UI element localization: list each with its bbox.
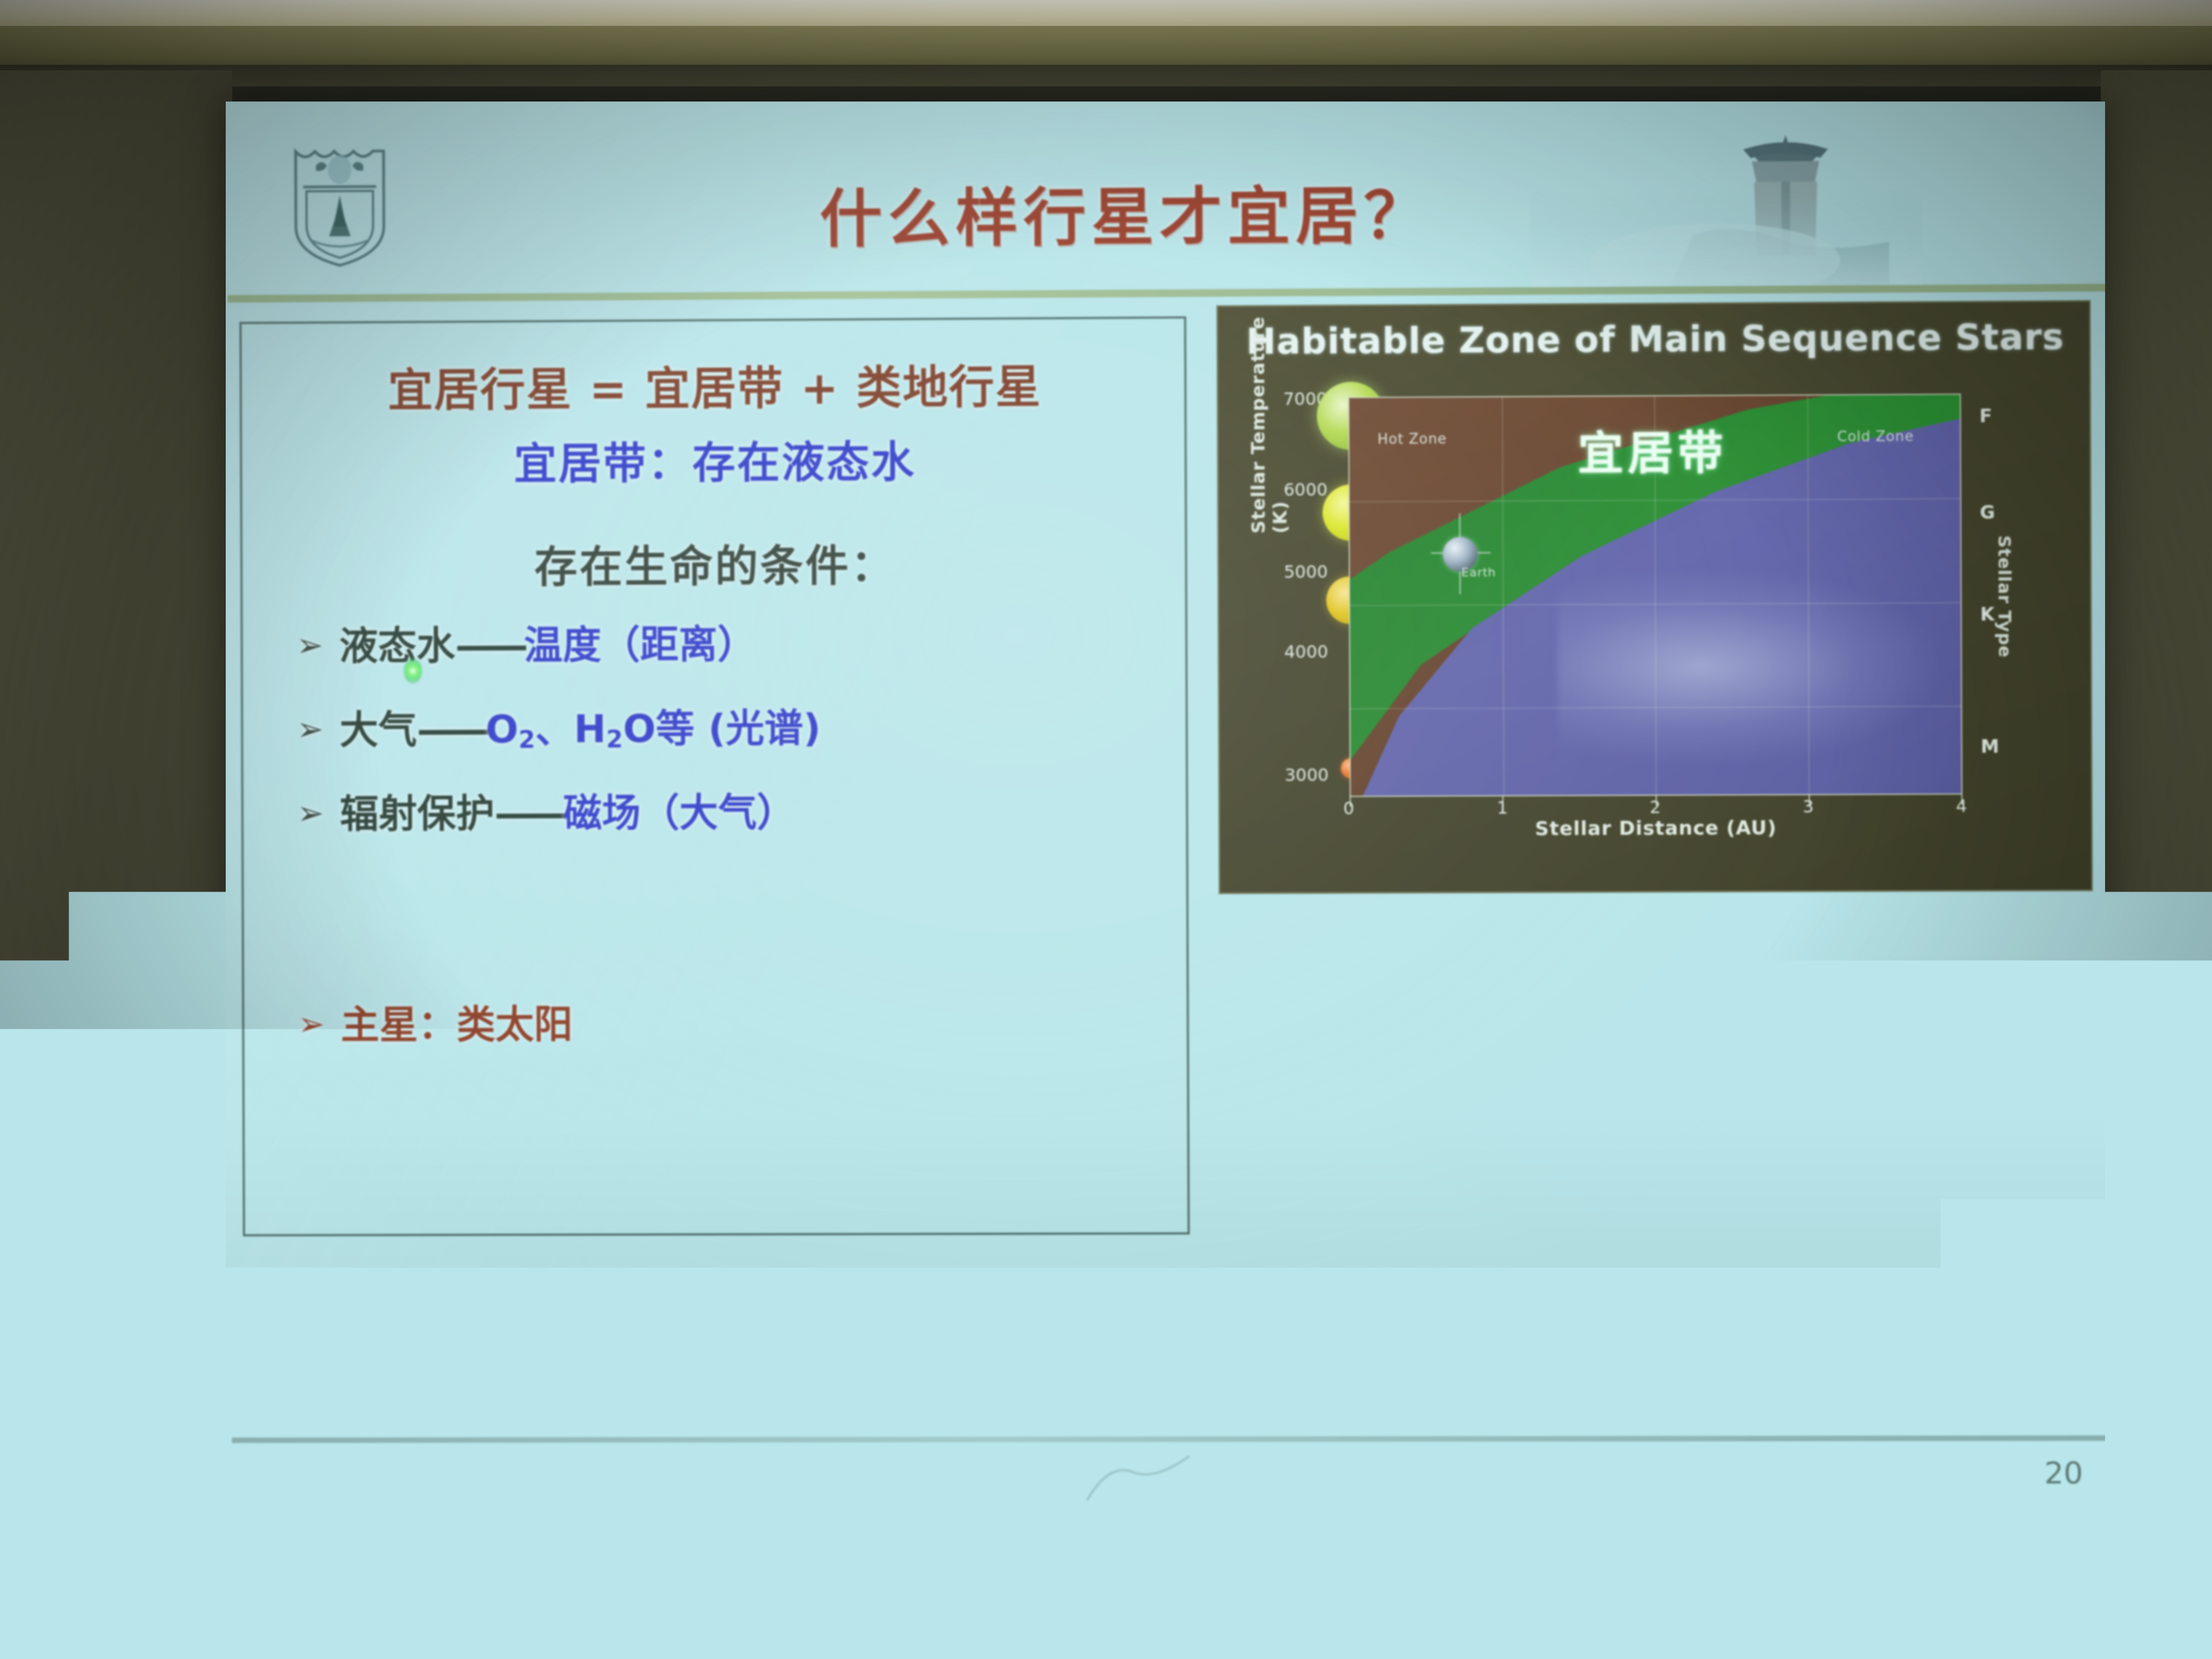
list-item: ➢ 大气——O2、H2O等 (光谱) bbox=[243, 694, 1190, 783]
bullet-arrow-icon: ➢ bbox=[298, 1008, 325, 1041]
bullet-value-h2o-subscript: 2 bbox=[606, 725, 623, 753]
stellar-type-K: K bbox=[1980, 604, 1995, 625]
earth-marker-label: Earth bbox=[1461, 566, 1496, 579]
stellar-type-G: G bbox=[1980, 502, 1995, 523]
y-tick-3000: 3000 bbox=[1285, 765, 1329, 785]
y-tick-5000: 5000 bbox=[1284, 562, 1328, 582]
stellar-type-F: F bbox=[1979, 406, 1992, 427]
screen-seam bbox=[232, 1435, 2105, 1443]
wall-left bbox=[0, 70, 232, 1561]
x-tick-1: 1 bbox=[1497, 798, 1508, 818]
audience-head bbox=[918, 1578, 1053, 1659]
slide-page: 什么样行星才宜居？ bbox=[227, 102, 2105, 1506]
bullet-key: 液态水 bbox=[339, 623, 455, 669]
projector-flare bbox=[918, 76, 1199, 140]
university-crest bbox=[290, 146, 390, 270]
x-tick-2: 2 bbox=[1650, 797, 1661, 817]
label-habitable-zone: 宜居带 bbox=[1512, 416, 1794, 483]
bullet-value-h2o-post: O等 (光谱) bbox=[623, 705, 821, 751]
bullet-arrow-icon: ➢ bbox=[296, 713, 323, 746]
audience-head bbox=[22, 1556, 184, 1659]
stellar-type-M: M bbox=[1981, 736, 1999, 758]
bullet-dash: —— bbox=[495, 790, 564, 835]
projection-screen: 什么样行星才宜居？ bbox=[226, 102, 2105, 1506]
list-item: ➢ 主星：类太阳 bbox=[244, 990, 1191, 1077]
bullet-dash: —— bbox=[455, 622, 524, 667]
bullet-value: 温度（距离） bbox=[524, 621, 756, 667]
chart-right-axis-label: Stellar Type bbox=[1994, 535, 2015, 752]
chart-x-axis-label: Stellar Distance (AU) bbox=[1350, 816, 1963, 840]
habitable-zone-chart: Habitable Zone of Main Sequence Stars St… bbox=[1216, 300, 2093, 894]
bullet-value-o2-subscript: 2 bbox=[518, 726, 535, 754]
bullet-key: 大气 bbox=[340, 707, 417, 752]
y-tick-6000: 6000 bbox=[1284, 479, 1328, 500]
bullet-arrow-icon: ➢ bbox=[297, 797, 324, 829]
label-hot-zone: Hot Zone bbox=[1378, 431, 1447, 448]
life-conditions-heading: 存在生命的条件： bbox=[242, 529, 1190, 596]
habitable-zone-definition: 宜居带：存在液态水 bbox=[242, 426, 1189, 493]
audience-head bbox=[713, 1535, 891, 1659]
wall-right bbox=[2101, 70, 2212, 1561]
chart-plot-area: Hot Zone 宜居带 Cold Zone Earth bbox=[1348, 394, 1962, 797]
bullet-value: 磁场（大气） bbox=[563, 790, 796, 835]
label-cold-zone: Cold Zone bbox=[1837, 428, 1914, 445]
x-tick-3: 3 bbox=[1803, 796, 1814, 817]
list-item: ➢ 液态水——温度（距离） bbox=[242, 610, 1190, 699]
laser-pointer-dot bbox=[404, 658, 422, 684]
conditions-list: ➢ 液态水——温度（距离） ➢ 大气——O2、H2O等 (光谱) ➢ 辐射保护—… bbox=[242, 610, 1191, 1077]
audience-head bbox=[194, 1578, 329, 1659]
habitable-planet-equation: 宜居行星 = 宜居带 + 类地行星 bbox=[242, 350, 1189, 421]
y-tick-4000: 4000 bbox=[1284, 642, 1328, 662]
page-title: 什么样行星才宜居？ bbox=[559, 163, 1694, 261]
x-tick-0: 0 bbox=[1343, 798, 1354, 819]
list-item: ➢ 辐射保护——磁场（大气） bbox=[244, 779, 1191, 866]
audience-silhouettes bbox=[0, 1481, 2212, 1659]
lecture-hall-photo: 什么样行星才宜居？ bbox=[0, 0, 2212, 1659]
bullet-value-o2: O bbox=[485, 706, 518, 752]
audience-head bbox=[1901, 1551, 2079, 1659]
bullet-value-h2o-pre: 、H bbox=[535, 706, 606, 751]
nebula-texture bbox=[1557, 570, 1937, 763]
content-textbox: 宜居行星 = 宜居带 + 类地行星 宜居带：存在液态水 存在生命的条件： ➢ 液… bbox=[239, 316, 1190, 1237]
audience-head bbox=[1339, 1567, 1485, 1659]
bullet-key: 主星：类太阳 bbox=[341, 1001, 573, 1047]
pagoda-watermark-image bbox=[1530, 125, 1922, 295]
header-divider bbox=[227, 284, 2105, 303]
chart-title: Habitable Zone of Main Sequence Stars bbox=[1218, 316, 2093, 363]
x-tick-4: 4 bbox=[1956, 795, 1967, 816]
bullet-arrow-icon: ➢ bbox=[296, 629, 323, 662]
bullet-dash: —— bbox=[417, 706, 486, 752]
bullet-key: 辐射保护 bbox=[340, 791, 494, 837]
